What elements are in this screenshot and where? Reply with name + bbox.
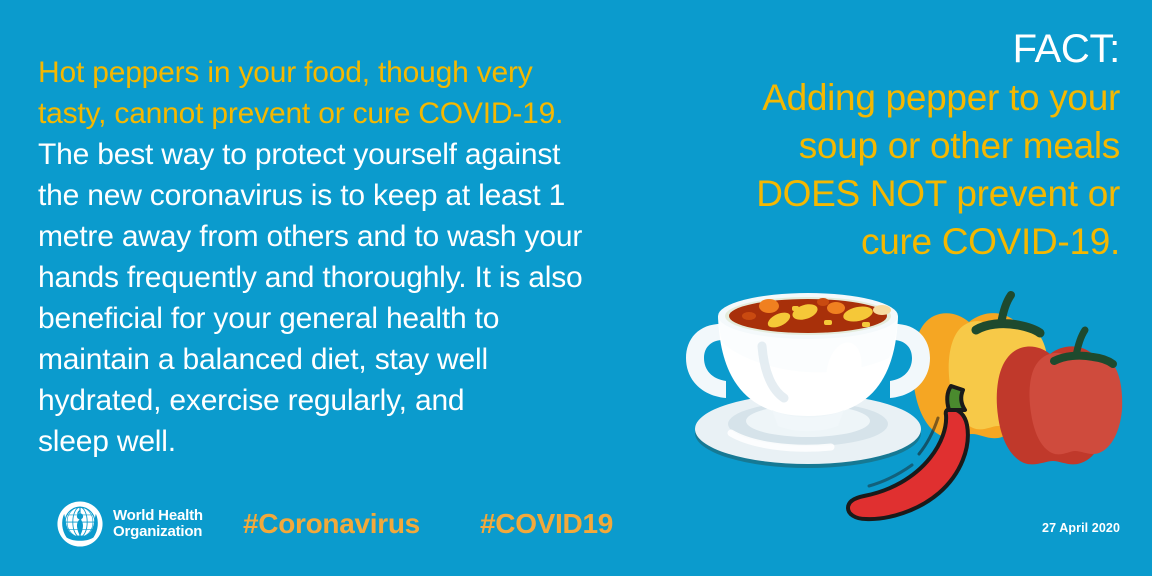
who-covid-infographic: Hot peppers in your food, though very ta… xyxy=(0,0,1152,576)
body-line-7: sleep well. xyxy=(38,421,648,462)
headline-line-0: Adding pepper to your xyxy=(650,74,1120,122)
headline-line-2: DOES NOT prevent or xyxy=(650,170,1120,218)
hashtag-covid19[interactable]: #COVID19 xyxy=(480,508,613,540)
who-wordmark-line-2: Organization xyxy=(113,524,203,541)
body-text-block: Hot peppers in your food, though very ta… xyxy=(38,52,648,462)
who-wordmark: World Health Organization xyxy=(113,508,203,541)
body-highlight-line-0: Hot peppers in your food, though very xyxy=(38,52,648,93)
who-logo: World Health Organization xyxy=(56,500,203,548)
headline-line-1: soup or other meals xyxy=(650,122,1120,170)
body-highlight-line-1: tasty, cannot prevent or cure COVID-19. xyxy=(38,93,648,134)
body-line-5: maintain a balanced diet, stay well xyxy=(38,339,648,380)
body-line-4: beneficial for your general health to xyxy=(38,298,648,339)
who-emblem-icon xyxy=(56,500,104,548)
fact-label: FACT: xyxy=(650,24,1120,74)
body-line-0: The best way to protect yourself against xyxy=(38,134,648,175)
hashtag-coronavirus[interactable]: #Coronavirus xyxy=(243,508,420,540)
headline-block: FACT: Adding pepper to your soup or othe… xyxy=(650,24,1120,266)
footer: World Health Organization #Coronavirus #… xyxy=(0,492,1152,576)
body-line-1: the new coronavirus is to keep at least … xyxy=(38,175,648,216)
body-line-6: hydrated, exercise regularly, and xyxy=(38,380,648,421)
publication-date: 27 April 2020 xyxy=(1042,521,1120,535)
body-line-3: hands frequently and thoroughly. It is a… xyxy=(38,257,648,298)
chili-stem-icon xyxy=(947,386,965,410)
body-line-2: metre away from others and to wash your xyxy=(38,216,648,257)
who-wordmark-line-1: World Health xyxy=(113,508,203,525)
